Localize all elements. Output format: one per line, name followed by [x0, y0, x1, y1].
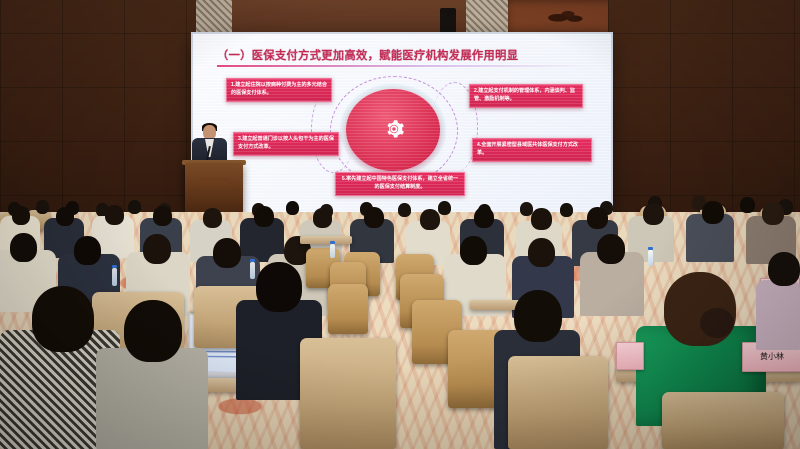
chair	[508, 356, 608, 449]
audience-head	[420, 209, 440, 230]
chair	[328, 284, 368, 334]
bottle-cap	[648, 247, 653, 250]
audience-head	[153, 206, 172, 226]
wall-art-panel-right	[506, 0, 618, 34]
table	[300, 236, 352, 244]
audience-head	[203, 208, 222, 228]
audience-head	[560, 203, 573, 217]
audience-head	[528, 238, 555, 267]
slide-callout-1: 1.建立起住院以按病种付费为主的多元结合的医保支付体系。	[226, 78, 332, 102]
audience-head	[398, 203, 411, 217]
audience-head	[74, 236, 101, 265]
slide-callout-4: 4.全面开展紧密型县域医共体医保支付方式改革。	[472, 138, 592, 162]
audience-head	[438, 201, 451, 215]
painting-motif-icon	[546, 7, 586, 25]
audience-head	[364, 207, 384, 228]
attendee-head	[124, 300, 182, 362]
slide-title: （一）医保支付方式更加高效，赋能医疗机构发展作用明显	[217, 47, 589, 63]
attendee-head	[768, 252, 800, 286]
audience-head	[531, 208, 552, 230]
attendee-head	[514, 290, 562, 342]
water-bottle	[250, 262, 255, 279]
slide-callout-5: 5.率先建立起中国特色医保支付体系，建立全省统一的医保支付结算制度。	[335, 172, 465, 196]
water-bottle	[330, 244, 335, 258]
attendee-head	[256, 262, 302, 312]
conference-photo: （一）医保支付方式更加高效，赋能医疗机构发展作用明显 1.建立起住院以按病种付费…	[0, 0, 800, 449]
name-placard	[616, 342, 644, 370]
water-bottle	[112, 268, 117, 286]
chair	[300, 338, 396, 449]
title-underline	[217, 65, 589, 67]
chair	[662, 392, 784, 449]
audience-head	[702, 201, 724, 224]
audience-head	[740, 197, 755, 213]
attendee-torso	[96, 348, 208, 449]
audience-head	[213, 238, 241, 268]
name-placard-label: 黄小林	[760, 353, 784, 361]
audience-head	[254, 206, 274, 227]
hair-bun	[700, 308, 734, 338]
projection-screen: （一）医保支付方式更加高效，赋能医疗机构发展作用明显 1.建立起住院以按病种付费…	[193, 34, 611, 212]
audience-head	[12, 206, 30, 225]
bottle-cap	[112, 265, 117, 268]
slide-callout-2: 2.建立起支付机制的管理体系，内涵谈判、监管、激励机制等。	[469, 84, 583, 108]
water-bottle	[648, 250, 653, 266]
audience-head	[762, 202, 784, 225]
audience-head	[474, 207, 494, 228]
ceiling-speaker-icon	[440, 8, 456, 34]
audience-head	[36, 200, 49, 214]
bottle-cap	[330, 241, 335, 244]
audience-head	[128, 200, 141, 214]
slide-callout-3: 3.建立起普通门诊以按人头包干为主的医保支付方式改革。	[233, 132, 339, 156]
attendee-head	[32, 286, 94, 352]
gear-icon	[383, 118, 405, 140]
podium-plate	[199, 178, 229, 185]
bottle-cap	[250, 259, 255, 262]
audience-head	[587, 207, 608, 229]
audience-head	[597, 234, 625, 264]
ceiling-lattice-mid-right	[466, 0, 508, 34]
audience-head	[105, 205, 124, 225]
audience-head	[643, 203, 664, 225]
audience-head	[313, 208, 332, 228]
audience-head	[286, 201, 299, 215]
audience-head	[10, 233, 37, 262]
audience-head	[460, 236, 487, 265]
attendee-torso	[756, 280, 800, 350]
audience-head	[56, 207, 74, 226]
audience-head	[143, 234, 171, 264]
